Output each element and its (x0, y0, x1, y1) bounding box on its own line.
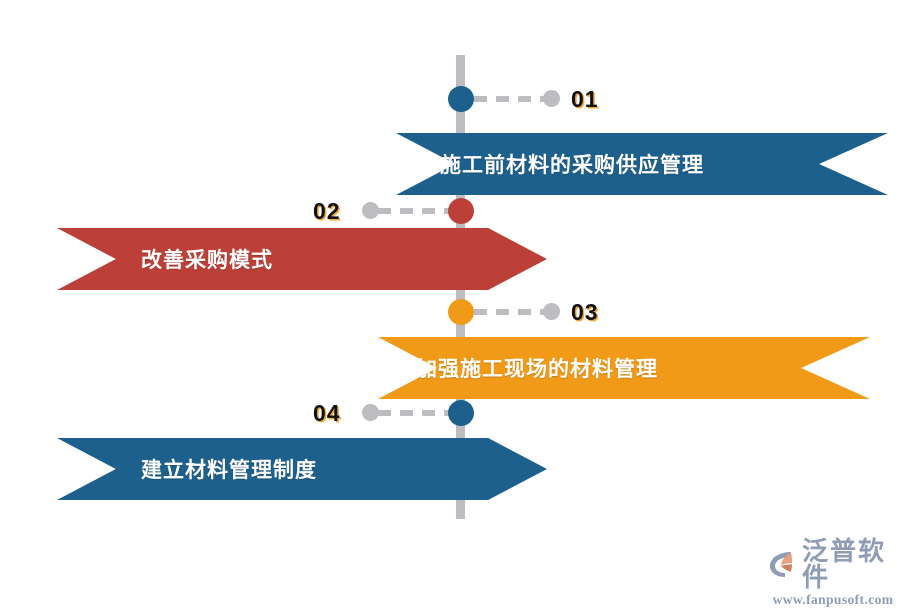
brand-name: 泛普软件 (802, 538, 900, 590)
timeline-node-02[interactable] (448, 198, 474, 224)
step-banner-label-04: 建立材料管理制度 (141, 454, 317, 484)
connector-end-dot-04 (362, 404, 379, 421)
connector-end-dot-03 (543, 303, 560, 320)
infographic-canvas: 01 施工前材料的采购供应管理 02 改善采购模式 03 加强施工现场的材料管理… (0, 0, 900, 600)
brand-logo: 泛普软件 www.fanpusoft.com (766, 538, 900, 608)
step-banner-03[interactable]: 加强施工现场的材料管理 (378, 337, 870, 399)
step-banner-01[interactable]: 施工前材料的采购供应管理 (396, 133, 888, 195)
connector-dashes-01 (474, 96, 544, 102)
step-banner-label-02: 改善采购模式 (141, 244, 273, 274)
timeline-node-03[interactable] (448, 299, 474, 325)
brand-logo-row: 泛普软件 (766, 538, 900, 590)
fanpu-c-mark-icon (766, 548, 798, 580)
step-number-04: 04 (313, 400, 341, 427)
connector-dashes-03 (474, 309, 544, 315)
step-number-02: 02 (313, 198, 341, 225)
step-number-03: 03 (571, 299, 599, 326)
connector-end-dot-02 (362, 202, 379, 219)
timeline-node-04[interactable] (448, 400, 474, 426)
brand-url: www.fanpusoft.com (773, 592, 894, 608)
connector-dashes-02 (378, 208, 450, 214)
connector-end-dot-01 (543, 90, 560, 107)
timeline-node-01[interactable] (448, 86, 474, 112)
step-banner-label-03: 加强施工现场的材料管理 (416, 353, 658, 383)
step-banner-04[interactable]: 建立材料管理制度 (57, 438, 547, 500)
connector-dashes-04 (378, 410, 450, 416)
step-banner-02[interactable]: 改善采购模式 (57, 228, 547, 290)
step-number-01: 01 (571, 86, 599, 113)
step-banner-label-01: 施工前材料的采购供应管理 (440, 149, 704, 179)
